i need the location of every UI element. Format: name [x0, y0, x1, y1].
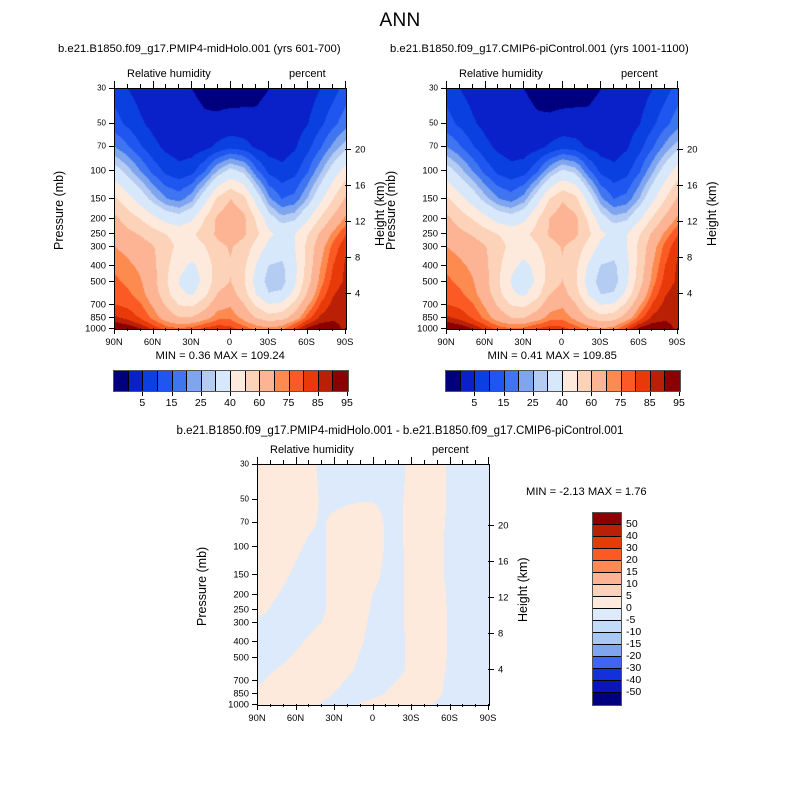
xtick-minor: [281, 328, 282, 331]
xtick-mark: [114, 328, 115, 334]
y2tick-label: 20: [687, 143, 697, 154]
y2tick-mark: [488, 633, 494, 634]
colorbar-left: [113, 370, 349, 392]
colorbar-cell: [593, 669, 621, 681]
xtick-label: 0: [370, 712, 375, 723]
ytick-mark: [441, 198, 446, 199]
ytick-label: 70: [72, 141, 106, 150]
xtick-major-top: [257, 457, 258, 464]
xtick-major-top: [600, 81, 601, 88]
y2tick-mark: [677, 149, 683, 150]
colorbar-label: -20: [626, 650, 641, 662]
xtick-label: 90S: [669, 336, 686, 347]
y2tick-label: 16: [498, 555, 508, 566]
colorbar-cell: [275, 371, 290, 391]
xtick-minor-top: [165, 84, 166, 88]
y2tick-label: 4: [355, 287, 360, 298]
xtick-minor: [510, 328, 511, 331]
colorbar-cell: [593, 621, 621, 633]
unit-label-diff: percent: [432, 444, 469, 456]
colorbar-tick: [474, 392, 475, 396]
xtick-minor: [475, 704, 476, 707]
colorbar-tick: [650, 392, 651, 396]
xtick-label: 60S: [298, 336, 315, 347]
xtick-mark: [296, 704, 297, 710]
colorbar-cell: [593, 693, 621, 705]
ytick-mark: [252, 609, 257, 610]
xtick-minor: [204, 328, 205, 331]
ytick-mark: [252, 622, 257, 623]
ytick-label: 850: [215, 687, 249, 698]
y-axis-title-diff: Pressure (mb): [195, 547, 209, 626]
xtick-label: 0: [227, 336, 232, 347]
xtick-minor: [398, 704, 399, 707]
ytick-label: 100: [72, 165, 106, 176]
xtick-minor: [472, 328, 473, 331]
colorbar-label: 15: [498, 397, 510, 409]
xtick-minor: [140, 328, 141, 331]
xtick-mark: [411, 704, 412, 710]
xtick-major-top: [523, 81, 524, 88]
colorbar-label: 25: [195, 397, 207, 409]
ytick-mark: [441, 218, 446, 219]
ytick-label: 850: [72, 311, 106, 322]
ytick-mark: [441, 88, 446, 89]
ytick-mark: [441, 146, 446, 147]
y2tick-label: 16: [687, 179, 697, 190]
colorbar-cell: [173, 371, 188, 391]
xtick-mark: [373, 704, 374, 710]
xtick-minor-top: [242, 84, 243, 88]
colorbar-label: 60: [253, 397, 265, 409]
xtick-major-top: [230, 81, 231, 88]
colorbar-cell: [187, 371, 202, 391]
colorbar-cell: [290, 371, 305, 391]
contour-field-right: [447, 89, 678, 329]
ytick-mark: [252, 499, 257, 500]
xtick-minor-top: [270, 460, 271, 464]
y2tick-mark: [488, 669, 494, 670]
xtick-minor-top: [294, 84, 295, 88]
colorbar-tick: [230, 392, 231, 396]
xtick-mark: [334, 704, 335, 710]
colorbar-cell: [593, 549, 621, 561]
colorbar-tick: [259, 392, 260, 396]
unit-label-right: percent: [621, 68, 658, 80]
colorbar-label: 30: [626, 542, 638, 554]
colorbar-cell: [593, 585, 621, 597]
colorbar-label: 15: [626, 566, 638, 578]
ytick-mark: [109, 317, 114, 318]
colorbar-cell: [143, 371, 158, 391]
colorbar-cell: [216, 371, 231, 391]
colorbar-label: 60: [585, 397, 597, 409]
xtick-mark: [191, 328, 192, 334]
colorbar-cell: [461, 371, 476, 391]
xtick-minor-top: [472, 84, 473, 88]
xtick-minor-top: [332, 84, 333, 88]
colorbar-cell: [333, 371, 348, 391]
colorbar-cell: [592, 371, 607, 391]
xtick-mark: [257, 704, 258, 710]
ytick-label: 30: [72, 84, 106, 93]
colorbar-label: 85: [644, 397, 656, 409]
colorbar-cell: [446, 371, 461, 391]
ytick-label: 300: [404, 240, 438, 251]
xtick-label: 90N: [105, 336, 122, 347]
colorbar-label: 5: [626, 590, 632, 602]
ytick-mark: [109, 304, 114, 305]
xtick-mark: [153, 328, 154, 334]
colorbar-cell: [505, 371, 520, 391]
colorbar-cell: [534, 371, 549, 391]
y2tick-label: 16: [355, 179, 365, 190]
ytick-mark: [441, 123, 446, 124]
ytick-mark: [252, 594, 257, 595]
colorbar-cell: [593, 513, 621, 525]
xtick-major-top: [677, 81, 678, 88]
xtick-minor: [459, 328, 460, 331]
xtick-major-top: [450, 457, 451, 464]
xtick-major-top: [639, 81, 640, 88]
ytick-mark: [109, 281, 114, 282]
colorbar-cell: [129, 371, 144, 391]
ytick-mark: [252, 641, 257, 642]
minmax-right: MIN = 0.41 MAX = 109.85: [488, 350, 617, 362]
colorbar-cell: [593, 645, 621, 657]
xtick-mark: [523, 328, 524, 334]
xtick-minor: [664, 328, 665, 331]
xtick-major-top: [296, 457, 297, 464]
y2tick-mark: [345, 185, 351, 186]
colorbar-cell: [246, 371, 261, 391]
xtick-label: 30S: [260, 336, 277, 347]
xtick-major-top: [191, 81, 192, 88]
plot-area-diff: [257, 464, 490, 706]
ytick-mark: [109, 198, 114, 199]
y2tick-label: 20: [355, 143, 365, 154]
ytick-label: 300: [72, 240, 106, 251]
ytick-mark: [441, 304, 446, 305]
colorbar-label: -5: [626, 614, 635, 626]
xtick-mark: [677, 328, 678, 334]
xtick-minor: [283, 704, 284, 707]
colorbar-label: 25: [527, 397, 539, 409]
y2tick-mark: [488, 561, 494, 562]
colorbar-tick: [504, 392, 505, 396]
ytick-mark: [441, 265, 446, 266]
xtick-minor: [319, 328, 320, 331]
xtick-minor-top: [510, 84, 511, 88]
xtick-minor: [308, 704, 309, 707]
contour-field-diff: [258, 465, 489, 705]
plot-area-left: [114, 88, 347, 330]
xtick-minor-top: [437, 460, 438, 464]
minmax-diff: MIN = -2.13 MAX = 1.76: [526, 486, 647, 498]
colorbar-cell: [158, 371, 173, 391]
unit-label-left: percent: [289, 68, 326, 80]
xtick-minor: [574, 328, 575, 331]
xtick-minor-top: [204, 84, 205, 88]
xtick-minor-top: [360, 460, 361, 464]
xtick-minor-top: [651, 84, 652, 88]
xtick-major-top: [373, 457, 374, 464]
ytick-mark: [441, 281, 446, 282]
ytick-mark: [441, 246, 446, 247]
xtick-minor: [613, 328, 614, 331]
colorbar-tick: [142, 392, 143, 396]
ytick-mark: [109, 218, 114, 219]
ytick-mark: [109, 170, 114, 171]
ytick-mark: [441, 317, 446, 318]
xtick-minor-top: [385, 460, 386, 464]
xtick-mark: [268, 328, 269, 334]
xtick-minor-top: [497, 84, 498, 88]
xtick-minor-top: [255, 84, 256, 88]
xtick-minor: [255, 328, 256, 331]
colorbar-cell: [607, 371, 622, 391]
contour-field-left: [115, 89, 346, 329]
colorbar-label: 50: [626, 518, 638, 530]
colorbar-label: 40: [224, 397, 236, 409]
xtick-minor-top: [127, 84, 128, 88]
ytick-label: 30: [404, 84, 438, 93]
xtick-minor: [549, 328, 550, 331]
ytick-mark: [252, 464, 257, 465]
xtick-minor: [437, 704, 438, 707]
y2tick-label: 8: [355, 251, 360, 262]
xtick-minor: [165, 328, 166, 331]
xtick-mark: [446, 328, 447, 334]
xtick-minor: [424, 704, 425, 707]
colorbar-tick: [201, 392, 202, 396]
colorbar-cell: [490, 371, 505, 391]
xtick-minor: [497, 328, 498, 331]
xtick-major-top: [345, 81, 346, 88]
xtick-minor-top: [319, 84, 320, 88]
xtick-minor: [651, 328, 652, 331]
ytick-label: 500: [72, 275, 106, 286]
colorbar-cell: [319, 371, 334, 391]
colorbar-label: -40: [626, 674, 641, 686]
colorbar-diff: [592, 512, 622, 706]
colorbar-cell: [231, 371, 246, 391]
ytick-mark: [109, 123, 114, 124]
xtick-mark: [345, 328, 346, 334]
colorbar-cell: [651, 371, 666, 391]
colorbar-cell: [548, 371, 563, 391]
xtick-mark: [485, 328, 486, 334]
y-axis-title-left: Pressure (mb): [52, 171, 66, 250]
ytick-label: 50: [72, 118, 106, 127]
y2tick-mark: [488, 597, 494, 598]
colorbar-cell: [114, 371, 129, 391]
colorbar-tick: [591, 392, 592, 396]
ytick-label: 400: [215, 636, 249, 647]
ytick-label: 1000: [404, 323, 438, 334]
ytick-label: 250: [404, 228, 438, 239]
xtick-minor: [360, 704, 361, 707]
xtick-label: 90N: [437, 336, 454, 347]
xtick-minor: [462, 704, 463, 707]
xtick-major-top: [411, 457, 412, 464]
variable-label-diff: Relative humidity: [270, 444, 354, 456]
ytick-mark: [109, 265, 114, 266]
colorbar-label: 20: [626, 554, 638, 566]
xtick-minor-top: [459, 84, 460, 88]
ytick-label: 150: [72, 193, 106, 204]
colorbar-label: 10: [626, 578, 638, 590]
xtick-label: 90S: [337, 336, 354, 347]
colorbar-label: 5: [471, 397, 477, 409]
ytick-label: 500: [215, 651, 249, 662]
xtick-label: 60S: [441, 712, 458, 723]
xtick-minor-top: [398, 460, 399, 464]
ytick-label: 1000: [215, 699, 249, 710]
y2tick-label: 12: [498, 591, 508, 602]
xtick-minor: [347, 704, 348, 707]
y2tick-mark: [345, 293, 351, 294]
y2tick-label: 4: [687, 287, 692, 298]
y2tick-mark: [345, 221, 351, 222]
ytick-label: 70: [215, 517, 249, 526]
ytick-label: 250: [72, 228, 106, 239]
colorbar-label: 0: [626, 602, 632, 614]
ytick-label: 250: [215, 604, 249, 615]
colorbar-cell: [593, 633, 621, 645]
y2tick-mark: [677, 293, 683, 294]
y2tick-mark: [345, 257, 351, 258]
xtick-major-top: [485, 81, 486, 88]
xtick-major-top: [334, 457, 335, 464]
ytick-mark: [441, 233, 446, 234]
panel-title-left: b.e21.B1850.f09_g17.PMIP4-midHolo.001 (y…: [58, 43, 341, 55]
xtick-minor-top: [424, 460, 425, 464]
ytick-mark: [252, 693, 257, 694]
colorbar-label: -50: [626, 686, 641, 698]
ytick-mark: [252, 574, 257, 575]
xtick-minor: [385, 704, 386, 707]
ytick-mark: [252, 680, 257, 681]
xtick-mark: [488, 704, 489, 710]
ytick-label: 50: [215, 494, 249, 503]
xtick-minor: [587, 328, 588, 331]
minmax-left: MIN = 0.36 MAX = 109.24: [156, 350, 285, 362]
xtick-label: 60N: [144, 336, 161, 347]
xtick-label: 60N: [287, 712, 304, 723]
colorbar-tick: [289, 392, 290, 396]
xtick-label: 60N: [476, 336, 493, 347]
colorbar-cell: [578, 371, 593, 391]
ytick-label: 700: [404, 298, 438, 309]
xtick-minor-top: [347, 460, 348, 464]
xtick-mark: [600, 328, 601, 334]
xtick-minor-top: [664, 84, 665, 88]
xtick-minor-top: [178, 84, 179, 88]
colorbar-label: 95: [341, 397, 353, 409]
y2tick-label: 8: [687, 251, 692, 262]
xtick-label: 30S: [592, 336, 609, 347]
xtick-mark: [450, 704, 451, 710]
xtick-minor: [332, 328, 333, 331]
colorbar-tick: [533, 392, 534, 396]
colorbar-tick: [679, 392, 680, 396]
ytick-mark: [109, 246, 114, 247]
colorbar-tick: [172, 392, 173, 396]
variable-label-right: Relative humidity: [459, 68, 543, 80]
ytick-label: 700: [72, 298, 106, 309]
xtick-label: 60S: [630, 336, 647, 347]
colorbar-cell: [519, 371, 534, 391]
panel-title-right: b.e21.B1850.f09_g17.CMIP6-piControl.001 …: [390, 43, 689, 55]
y2tick-mark: [345, 149, 351, 150]
y2-axis-title-right: Height (km): [705, 181, 719, 246]
xtick-minor: [242, 328, 243, 331]
xtick-mark: [307, 328, 308, 334]
xtick-label: 30N: [325, 712, 342, 723]
ytick-mark: [109, 146, 114, 147]
colorbar-cell: [593, 597, 621, 609]
colorbar-label: -10: [626, 626, 641, 638]
xtick-label: 90N: [248, 712, 265, 723]
y2tick-label: 12: [687, 215, 697, 226]
ytick-label: 700: [215, 674, 249, 685]
colorbar-cell: [665, 371, 680, 391]
y2tick-mark: [677, 185, 683, 186]
ytick-label: 100: [404, 165, 438, 176]
ytick-label: 50: [404, 118, 438, 127]
xtick-minor-top: [536, 84, 537, 88]
ytick-label: 200: [215, 588, 249, 599]
ytick-mark: [252, 657, 257, 658]
colorbar-label: 75: [283, 397, 295, 409]
xtick-minor-top: [475, 460, 476, 464]
xtick-minor: [178, 328, 179, 331]
xtick-major-top: [268, 81, 269, 88]
y2tick-label: 12: [355, 215, 365, 226]
colorbar-cell: [593, 561, 621, 573]
colorbar-cell: [593, 537, 621, 549]
xtick-minor: [217, 328, 218, 331]
main-title: ANN: [0, 10, 800, 32]
ytick-label: 150: [404, 193, 438, 204]
colorbar-cell: [593, 609, 621, 621]
xtick-minor-top: [549, 84, 550, 88]
colorbar-cell: [202, 371, 217, 391]
ytick-mark: [441, 170, 446, 171]
ytick-label: 70: [404, 141, 438, 150]
ytick-label: 200: [404, 212, 438, 223]
xtick-minor: [321, 704, 322, 707]
xtick-minor-top: [462, 460, 463, 464]
xtick-major-top: [562, 81, 563, 88]
colorbar-cell: [304, 371, 319, 391]
xtick-minor: [536, 328, 537, 331]
colorbar-cell: [563, 371, 578, 391]
ytick-label: 850: [404, 311, 438, 322]
xtick-mark: [230, 328, 231, 334]
xtick-minor-top: [283, 460, 284, 464]
variable-label-left: Relative humidity: [127, 68, 211, 80]
colorbar-label: 15: [166, 397, 178, 409]
ytick-label: 300: [215, 616, 249, 627]
colorbar-label: 40: [626, 530, 638, 542]
xtick-minor-top: [140, 84, 141, 88]
colorbar-tick: [621, 392, 622, 396]
colorbar-tick: [347, 392, 348, 396]
xtick-mark: [639, 328, 640, 334]
panel-title-diff: b.e21.B1850.f09_g17.PMIP4-midHolo.001 - …: [0, 425, 800, 437]
